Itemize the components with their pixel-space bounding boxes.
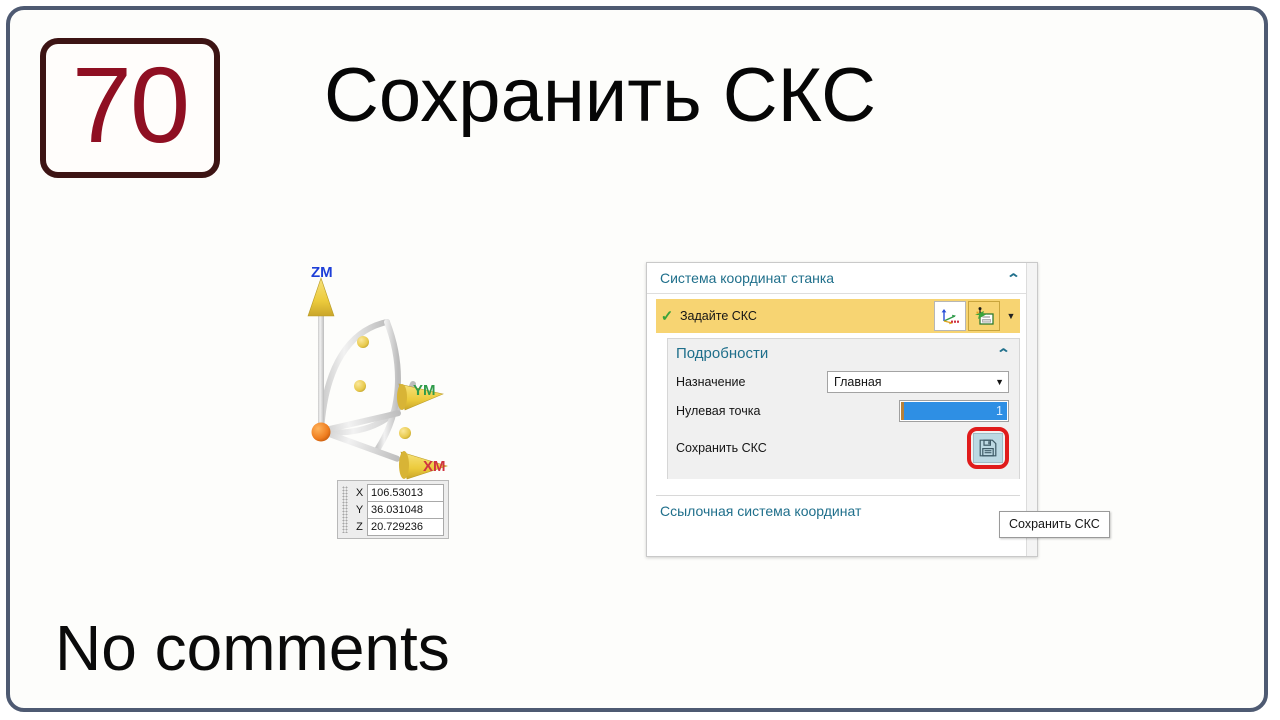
highlight-ring bbox=[967, 427, 1009, 469]
purpose-label: Назначение bbox=[676, 375, 827, 389]
purpose-select[interactable]: Главная ▼ bbox=[827, 371, 1009, 393]
check-icon: ✓ bbox=[656, 307, 678, 325]
define-csys-bar[interactable]: ✓ Задайте СКС bbox=[656, 299, 1020, 333]
zero-point-input[interactable]: 1 bbox=[899, 400, 1009, 422]
reference-csys-group-header[interactable]: Ссылочная система координат bbox=[656, 495, 1020, 526]
slide-footer-text: No comments bbox=[55, 616, 450, 680]
panel-header-title: Система координат станка bbox=[660, 270, 1008, 286]
save-csys-control[interactable] bbox=[967, 427, 1009, 469]
page-title: Сохранить СКС bbox=[324, 58, 876, 134]
reference-csys-title: Ссылочная система координат bbox=[660, 503, 861, 519]
step-number-badge: 70 bbox=[40, 38, 220, 178]
csys-dynamic-glyph bbox=[940, 307, 960, 325]
slide-frame: 70 Сохранить СКС No comments bbox=[6, 6, 1268, 712]
coord-value-field[interactable]: 106.53013 bbox=[367, 484, 444, 502]
table-row[interactable]: Y 36.031048 bbox=[352, 501, 444, 518]
table-row[interactable]: Z 20.729236 bbox=[352, 518, 444, 535]
coordinate-readout-table[interactable]: X 106.53013 Y 36.031048 Z 20.729236 bbox=[337, 480, 449, 539]
table-row[interactable]: X 106.53013 bbox=[352, 484, 444, 501]
zero-point-row: Нулевая точка 1 bbox=[668, 396, 1019, 425]
axis-label-z: ZM bbox=[311, 264, 333, 281]
csys-dynamic-icon[interactable] bbox=[934, 301, 966, 331]
panel-group-header[interactable]: Система координат станка ⌃ bbox=[647, 263, 1029, 294]
define-csys-label: Задайте СКС bbox=[678, 309, 934, 323]
coord-axis-label: Y bbox=[352, 501, 367, 518]
details-title: Подробности bbox=[676, 345, 998, 362]
csys-from-object-icon[interactable] bbox=[968, 301, 1000, 331]
axis-label-x: XM bbox=[423, 458, 446, 475]
coord-axis-label: Z bbox=[352, 518, 367, 535]
csys-3d-widget[interactable]: ZM YM XM bbox=[295, 260, 475, 490]
csys-axes-graphic bbox=[295, 260, 475, 490]
save-csys-row: Сохранить СКС bbox=[668, 425, 1019, 471]
coord-value-field[interactable]: 36.031048 bbox=[367, 501, 444, 519]
step-number-label: 70 bbox=[72, 51, 188, 165]
details-group: Подробности ⌃ Назначение Главная ▼ Нул bbox=[667, 338, 1020, 479]
axis-label-y: YM bbox=[413, 382, 436, 399]
zero-point-label: Нулевая точка bbox=[676, 404, 828, 418]
save-csys-tooltip: Сохранить СКС bbox=[999, 511, 1110, 538]
coord-axis-label: X bbox=[352, 484, 367, 501]
chevron-up-icon[interactable]: ⌃ bbox=[1006, 272, 1021, 285]
chevron-down-icon[interactable]: ▼ bbox=[1002, 311, 1020, 321]
purpose-row: Назначение Главная ▼ bbox=[668, 367, 1019, 396]
purpose-select-value: Главная bbox=[834, 375, 995, 389]
machine-coordinate-system-panel: Система координат станка ⌃ ✓ Задайте СКС bbox=[646, 262, 1038, 557]
chevron-down-icon[interactable]: ▼ bbox=[995, 377, 1004, 387]
zero-point-value: 1 bbox=[901, 402, 1007, 420]
details-group-header[interactable]: Подробности ⌃ bbox=[668, 339, 1019, 367]
coord-value-field[interactable]: 20.729236 bbox=[367, 518, 444, 536]
save-csys-label: Сохранить СКС bbox=[676, 441, 828, 455]
chevron-up-icon[interactable]: ⌃ bbox=[996, 347, 1011, 360]
csys-from-object-glyph bbox=[974, 307, 994, 325]
